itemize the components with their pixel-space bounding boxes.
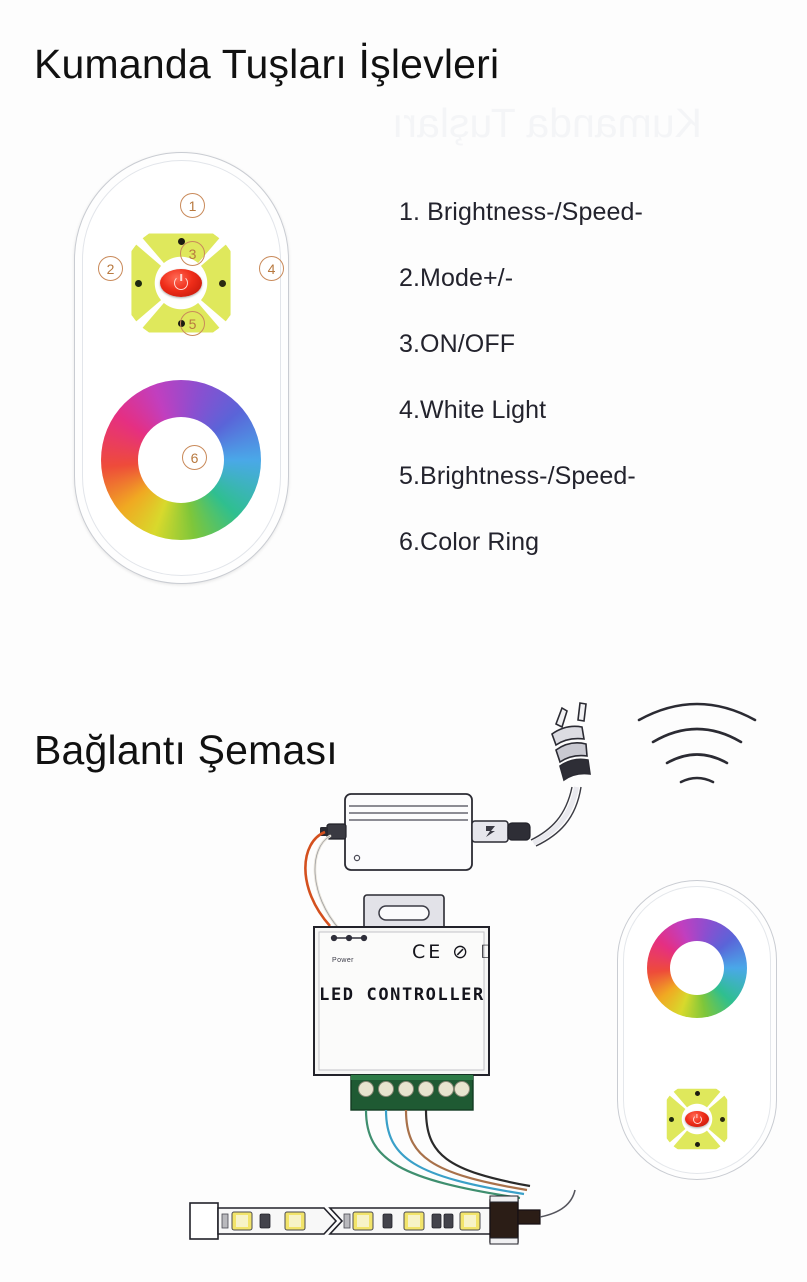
power-button[interactable] <box>160 269 202 297</box>
remote-control-illustration <box>74 152 289 584</box>
led-controller-label: LED CONTROLLER <box>317 985 487 1005</box>
certification-marks: CE ⊘ ⌷ <box>412 941 495 963</box>
color-ring-wheel[interactable] <box>101 380 261 540</box>
remote2-color-ring[interactable] <box>647 918 747 1018</box>
callout-2: 2 <box>98 256 123 281</box>
remote2-power-icon <box>693 1115 702 1124</box>
callout-1: 1 <box>180 193 205 218</box>
remote2-up-dot-icon <box>695 1091 700 1096</box>
callout-4: 4 <box>259 256 284 281</box>
list-item: 6.Color Ring <box>399 528 779 557</box>
terminal-block <box>351 1075 473 1110</box>
remote2-power-button[interactable] <box>685 1111 709 1127</box>
callout-3: 3 <box>180 241 205 266</box>
remote2-white-light-icon <box>720 1117 725 1122</box>
white-light-bulb-icon <box>219 280 226 287</box>
remote2-mode-icon <box>669 1117 674 1122</box>
list-item: 1. Brightness-/Speed- <box>399 198 779 227</box>
ac-plug-icon <box>552 703 590 780</box>
list-item: 3.ON/OFF <box>399 330 779 359</box>
mode-icon <box>135 280 142 287</box>
power-supply-unit <box>320 794 530 870</box>
list-item: 5.Brightness-/Speed- <box>399 462 779 491</box>
function-list: 1. Brightness-/Speed- 2.Mode+/- 3.ON/OFF… <box>399 198 779 594</box>
callout-5: 5 <box>180 311 205 336</box>
remote2-directional-pad[interactable] <box>661 1083 733 1155</box>
power-icon <box>174 276 188 290</box>
led-strip <box>190 1190 575 1244</box>
ghost-bleed-text: Kumanda Tuşları <box>392 100 702 147</box>
remote2-down-dot-icon <box>695 1142 700 1147</box>
remote-control-receiver-illustration <box>617 880 777 1180</box>
list-item: 4.White Light <box>399 396 779 425</box>
wiring-diagram: Power CE ⊘ ⌷ LED CONTROLLER <box>0 690 807 1282</box>
list-item: 2.Mode+/- <box>399 264 779 293</box>
power-terminal-label: Power <box>332 957 354 964</box>
callout-6: 6 <box>182 445 207 470</box>
page-title-remote-functions: Kumanda Tuşları İşlevleri <box>34 41 499 88</box>
page-root: Kumanda Tuşları Kumanda Tuşları İşlevler… <box>0 0 807 1282</box>
rf-signal-waves-icon <box>639 704 755 782</box>
